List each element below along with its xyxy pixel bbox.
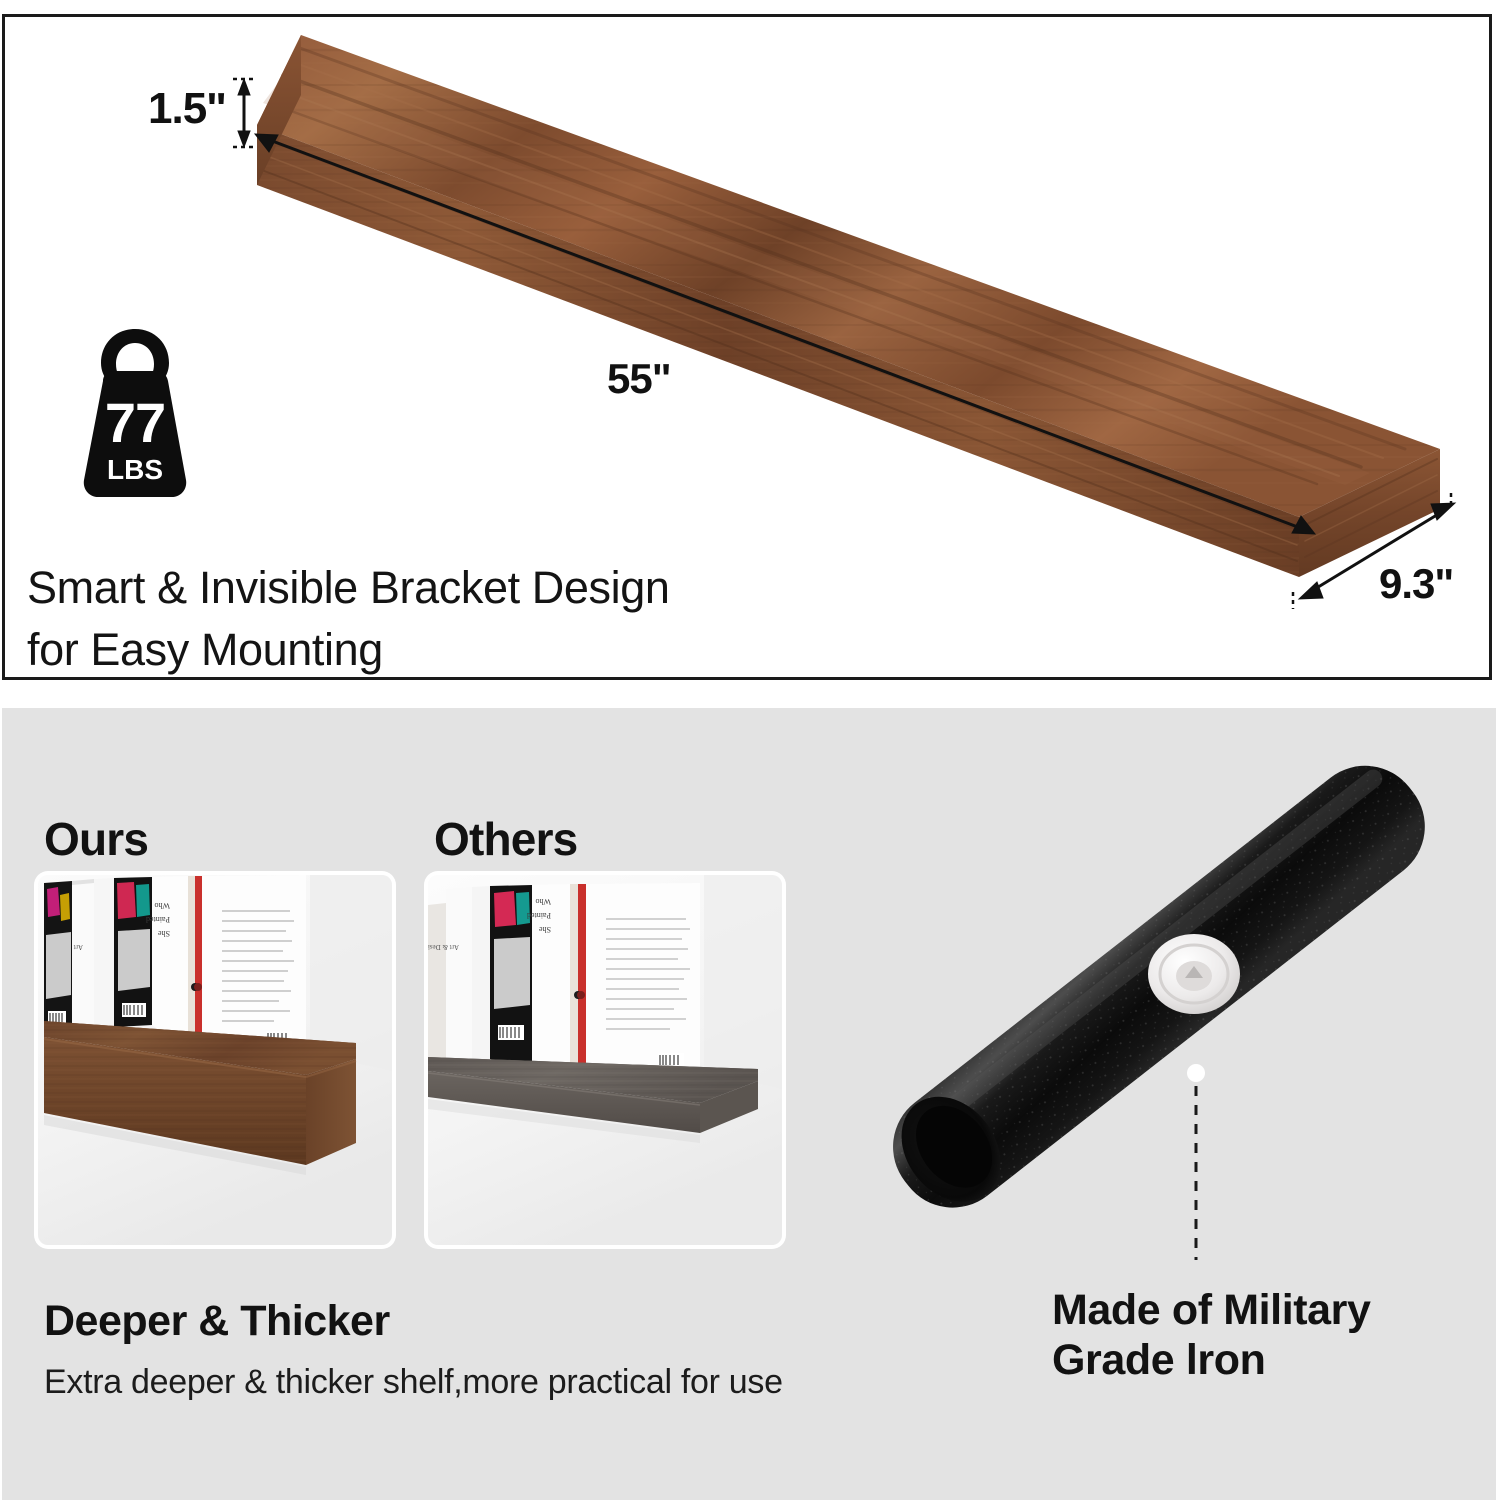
shelf-left-end-edge [257, 35, 301, 185]
svg-text:Art & Design: Art & Design [428, 943, 459, 951]
weight-value: 77 [59, 395, 211, 451]
top-panel: 1.5" 55" 9.3" 77 LBS Smart & Invisible B… [2, 14, 1492, 680]
dimension-label-thickness: 1.5" [148, 87, 226, 131]
others-shelf-photo: Art & Design Who Painted She [428, 875, 782, 1245]
dimension-arrow-length [255, 134, 1315, 534]
dimension-arrow-thickness [233, 79, 255, 147]
svg-text:Who: Who [535, 897, 551, 906]
shelf-top-face [257, 35, 1440, 517]
comparison-label-ours: Ours [44, 816, 148, 862]
feature-caption-subtitle: Extra deeper & thicker shelf,more practi… [44, 1362, 783, 1403]
comparison-label-others: Others [434, 816, 577, 862]
svg-text:Who: Who [154, 901, 170, 910]
top-panel-headline: Smart & Invisible Bracket Design for Eas… [27, 557, 927, 680]
iron-rod-callout: Made of Military Grade lron [1052, 1286, 1371, 1386]
rod-callout-line-2: Grade lron [1052, 1336, 1371, 1386]
dimension-label-depth: 9.3" [1379, 563, 1453, 605]
svg-text:Art: Art [74, 943, 83, 951]
svg-text:Painted: Painted [527, 911, 551, 920]
weight-unit: LBS [59, 456, 211, 484]
comparison-photo-others: Art & Design Who Painted She [428, 875, 782, 1245]
dimension-label-length: 55" [607, 358, 671, 400]
shelf-front-edge [257, 125, 1299, 577]
feature-caption-title: Deeper & Thicker [44, 1300, 390, 1343]
svg-text:She: She [539, 925, 551, 934]
svg-text:She: She [158, 929, 170, 938]
product-infographic: 1.5" 55" 9.3" 77 LBS Smart & Invisible B… [0, 0, 1498, 1500]
headline-line-1: Smart & Invisible Bracket Design [27, 557, 927, 619]
svg-text:Painted: Painted [146, 915, 170, 924]
shelf-right-end-edge [1299, 449, 1440, 577]
ours-shelf-photo: Art Who Painted She [38, 875, 392, 1245]
rod-callout-line-1: Made of Military [1052, 1286, 1371, 1336]
headline-line-2: for Easy Mounting [27, 619, 927, 680]
weight-capacity-badge: 77 LBS [59, 325, 211, 503]
comparison-photo-ours: Art Who Painted She [38, 875, 392, 1245]
